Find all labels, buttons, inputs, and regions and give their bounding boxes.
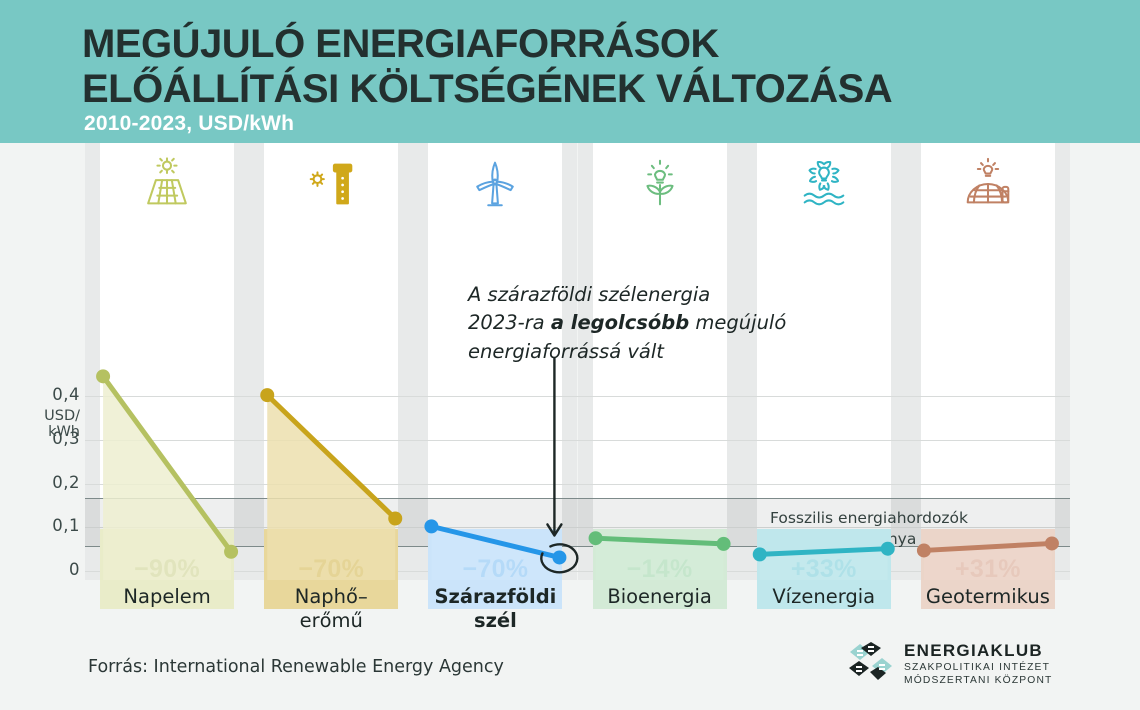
chart-plot-area: Fosszilis energiahordozókköltségtartomán… [0,143,1140,580]
data-point-sz-razf-ldi-sz-l-2023 [552,550,566,564]
data-point-napelem-2023 [224,545,238,559]
logo-title: ENERGIAKLUB [904,641,1052,661]
annotation-line-2: 2023-ra a legolcsóbb megújuló [468,309,898,337]
data-point-geotermikus-2023 [1045,536,1059,550]
page-title-line2: ELŐÁLLÍTÁSI KÖLTSÉGÉNEK VÁLTOZÁSA [82,67,1102,112]
annotation-line-2-emphasis: a legolcsóbb [551,311,689,334]
data-point-sz-razf-ldi-sz-l-2010 [424,519,438,533]
energiaklub-logo: ENERGIAKLUB SZAKPOLITIKAI INTÉZET MÓDSZE… [848,640,1080,690]
x-axis-label-geotermikus: Geotermikus [906,585,1070,609]
x-axis-label-line: Naphő– [249,585,413,609]
annotation-line-2-pre: 2023-ra [468,311,551,334]
x-axis-label-line: Szárazföldi [413,585,577,609]
solar-panel-icon [132,153,202,215]
x-axis-label-line: szél [413,609,577,633]
data-point-napelem-2010 [96,369,110,383]
series-area-naph-er-m- [267,395,395,580]
data-point-naph-er-m--2010 [260,388,274,402]
logo-text-block: ENERGIAKLUB SZAKPOLITIKAI INTÉZET MÓDSZE… [904,641,1052,687]
data-point-geotermikus-2010 [917,543,931,557]
page-subtitle: 2010-2023, USD/kWh [84,112,294,136]
header-banner: MEGÚJULÓ ENERGIAFORRÁSOK ELŐÁLLÍTÁSI KÖL… [0,0,1140,143]
x-axis-label-napelem: Napelem [85,585,249,609]
x-axis-label-bioenergia: Bioenergia [578,585,742,609]
x-axis-label-v-zenergia: Vízenergia [742,585,906,609]
data-point-v-zenergia-2010 [753,547,767,561]
x-axis-label-line: erőmű [249,609,413,633]
logo-subtitle-2: MÓDSZERTANI KÖZPONT [904,674,1052,687]
logo-mark-icon [848,642,894,684]
x-axis-labels: NapelemNaphő–erőműSzárazföldiszélBioener… [0,585,1140,645]
data-point-v-zenergia-2023 [881,542,895,556]
wind-turbine-icon [460,153,530,215]
chart-annotation-text: A szárazföldi szélenergia2023-ra a legol… [468,281,898,366]
solar-thermal-tower-icon [296,153,366,215]
data-point-bioenergia-2010 [589,531,603,545]
data-point-naph-er-m--2023 [388,512,402,526]
page-title: MEGÚJULÓ ENERGIAFORRÁSOK ELŐÁLLÍTÁSI KÖL… [82,22,1102,112]
geothermal-icon [953,153,1023,215]
annotation-line-1: A szárazföldi szélenergia [468,281,898,309]
x-axis-label-naph-er-m-: Naphő–erőmű [249,585,413,634]
hydro-water-icon [789,153,859,215]
infographic-root: MEGÚJULÓ ENERGIAFORRÁSOK ELŐÁLLÍTÁSI KÖL… [0,0,1140,710]
data-point-bioenergia-2023 [717,537,731,551]
x-axis-label-sz-razf-ldi-sz-l: Szárazföldiszél [413,585,577,634]
annotation-line-2-post: megújuló [689,311,786,334]
annotation-line-3: energiaforrássá vált [468,338,898,366]
logo-subtitle-1: SZAKPOLITIKAI INTÉZET [904,661,1052,674]
page-title-line1: MEGÚJULÓ ENERGIAFORRÁSOK [82,22,719,66]
bioenergy-plant-icon [625,153,695,215]
source-note: Forrás: International Renewable Energy A… [88,657,504,677]
